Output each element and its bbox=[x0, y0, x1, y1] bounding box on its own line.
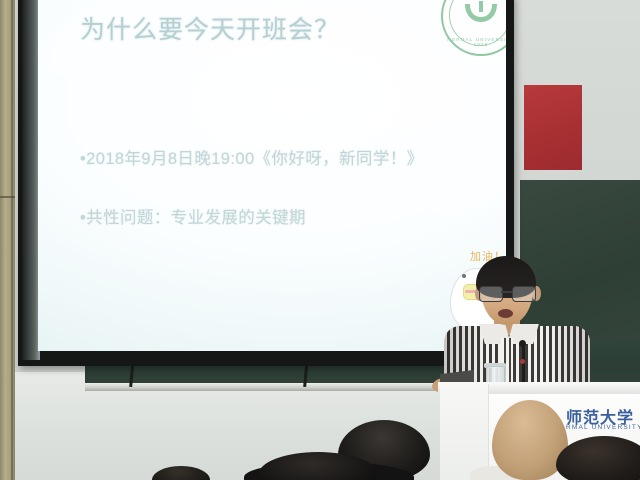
slide-bullet-1: •2018年9月8日晚19:00《你好呀，新同学！》 bbox=[80, 145, 424, 169]
glasses-bridge bbox=[501, 291, 512, 293]
podium-brand-english: RMAL UNIVERSITY bbox=[566, 424, 640, 431]
glasses-lens-left bbox=[479, 286, 503, 302]
door-frame-line bbox=[11, 0, 13, 480]
seal-text-bottom: NORMAL UNIVERSITY 1925 bbox=[443, 37, 506, 47]
door-frame-seam bbox=[0, 196, 15, 198]
glasses-icon bbox=[478, 286, 536, 300]
microphone-indicator bbox=[520, 359, 525, 364]
red-poster bbox=[524, 85, 582, 170]
lecture-photo-scene: 为什么要今天开班会？ •2018年9月8日晚19:00《你好呀，新同学！》 •共… bbox=[0, 0, 640, 480]
podium-side-block bbox=[440, 384, 489, 480]
slide-bullet-2: •共性问题：专业发展的关键期 bbox=[80, 204, 306, 228]
speaker-mouth bbox=[498, 309, 513, 318]
seal-emblem-icon bbox=[461, 0, 501, 26]
glasses-lens-right bbox=[512, 286, 536, 302]
slide-title: 为什么要今天开班会？ bbox=[80, 10, 340, 46]
